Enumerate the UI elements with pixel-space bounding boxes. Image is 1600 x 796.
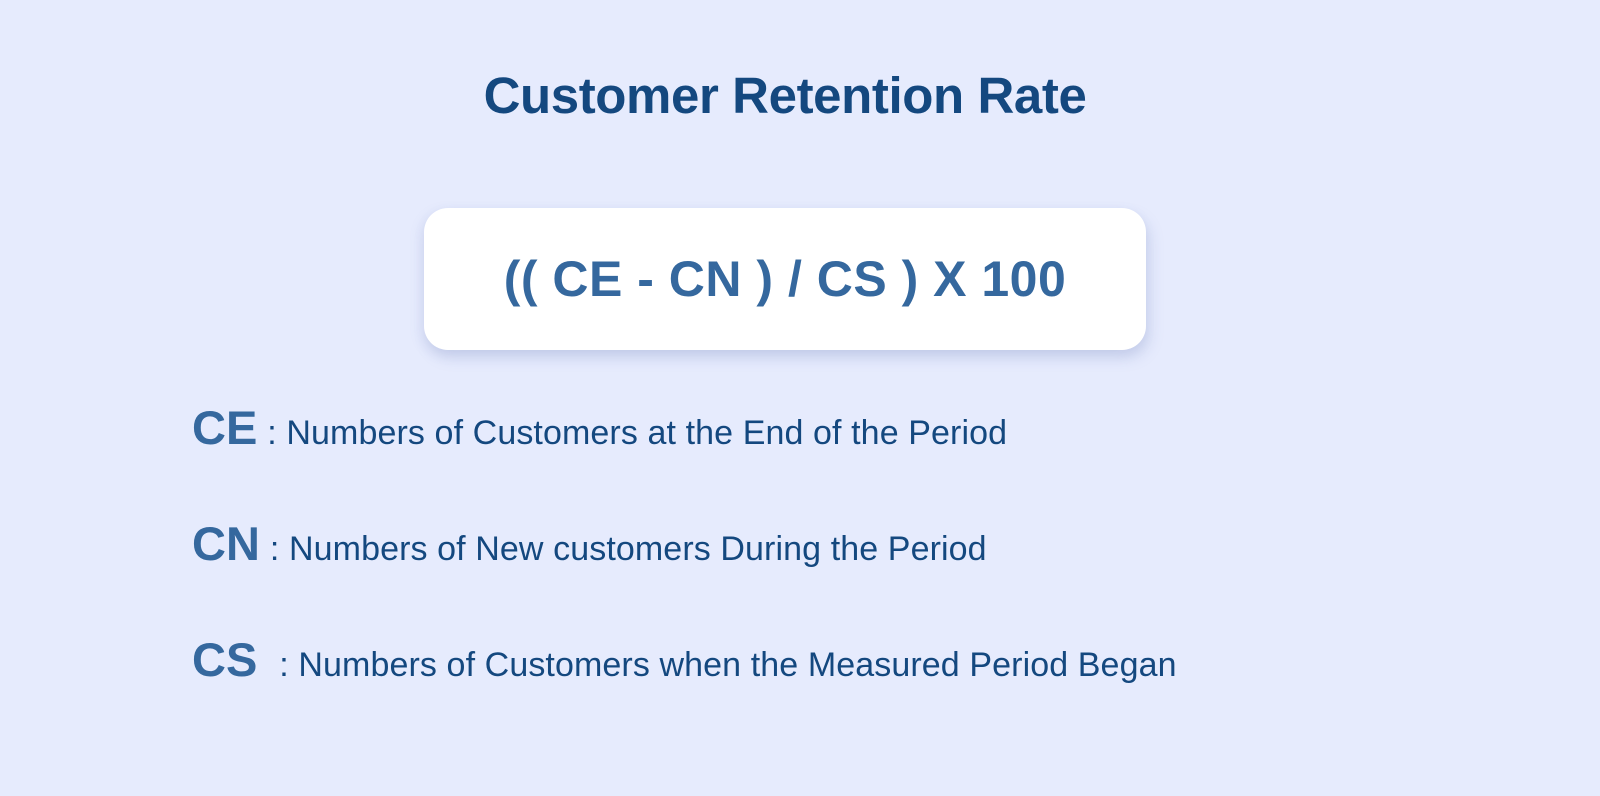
legend-abbr-cs: CS bbox=[192, 636, 257, 683]
legend-desc-cs: : Numbers of Customers when the Measured… bbox=[279, 648, 1176, 682]
legend-abbr-cn: CN bbox=[192, 520, 260, 567]
legend-desc-ce: : Numbers of Customers at the End of the… bbox=[267, 416, 1007, 450]
legend-list: CE : Numbers of Customers at the End of … bbox=[192, 404, 1562, 752]
legend-item-cs: CS : Numbers of Customers when the Measu… bbox=[192, 636, 1562, 752]
formula-expression: (( CE - CN ) / CS ) X 100 bbox=[504, 254, 1067, 304]
legend-abbr-ce: CE bbox=[192, 404, 257, 451]
legend-desc-cn: : Numbers of New customers During the Pe… bbox=[270, 532, 987, 566]
legend-item-cn: CN : Numbers of New customers During the… bbox=[192, 520, 1562, 636]
page-title: Customer Retention Rate bbox=[0, 68, 1570, 124]
legend-item-ce: CE : Numbers of Customers at the End of … bbox=[192, 404, 1562, 520]
infographic-canvas: Customer Retention Rate (( CE - CN ) / C… bbox=[0, 0, 1600, 796]
formula-card: (( CE - CN ) / CS ) X 100 bbox=[424, 208, 1146, 350]
